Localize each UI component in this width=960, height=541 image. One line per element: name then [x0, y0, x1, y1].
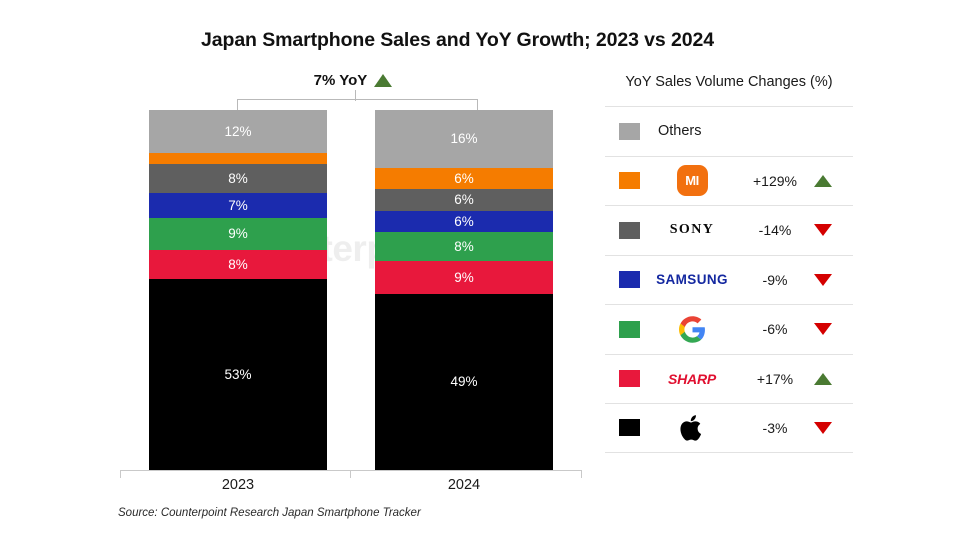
- samsung-logo-icon: SAMSUNG: [656, 272, 728, 287]
- legend-trend-arrow: [806, 323, 840, 335]
- legend-value: -6%: [744, 321, 806, 337]
- bar-segment-others: 16%: [375, 110, 553, 168]
- legend-brand-logo: SHARP: [640, 371, 744, 387]
- plot-area: 12%8%7%9%8%53% 16%6%6%6%8%9%49%: [120, 110, 582, 470]
- legend-row-sony[interactable]: SONY-14%: [605, 205, 853, 255]
- bar-segment-xiaomi: 6%: [375, 168, 553, 190]
- legend-value: +129%: [744, 173, 806, 189]
- axis-tick: [581, 470, 582, 478]
- legend-value: -3%: [744, 420, 806, 436]
- legend-rows: OthersMI+129%SONY-14%SAMSUNG-9%-6%SHARP+…: [605, 106, 853, 453]
- segment-value-label: 9%: [454, 271, 474, 285]
- legend-value: -14%: [744, 222, 806, 238]
- arrow-up-icon: [814, 175, 832, 187]
- google-logo-icon: [679, 316, 706, 343]
- segment-value-label: 6%: [454, 193, 474, 207]
- segment-value-label: 49%: [450, 375, 477, 389]
- segment-value-label: 8%: [454, 240, 474, 254]
- page-title: Japan Smartphone Sales and YoY Growth; 2…: [0, 29, 915, 52]
- legend-color-swatch: [619, 172, 640, 189]
- axis-tick: [350, 470, 351, 478]
- legend-brand-logo: SAMSUNG: [640, 272, 744, 287]
- stacked-bar-2024: 16%6%6%6%8%9%49%: [375, 110, 553, 470]
- bar-segment-sharp: 9%: [375, 261, 553, 293]
- bar-segment-samsung: 7%: [149, 193, 327, 218]
- arrow-down-icon: [814, 422, 832, 434]
- sharp-logo-icon: SHARP: [668, 371, 716, 387]
- legend-title: YoY Sales Volume Changes (%): [605, 74, 853, 90]
- legend-brand-logo: [640, 414, 744, 442]
- arrow-up-icon: [374, 74, 392, 87]
- arrow-down-icon: [814, 224, 832, 236]
- legend-trend-arrow: [806, 175, 840, 187]
- legend-value: -9%: [744, 272, 806, 288]
- legend-brand-logo: [640, 316, 744, 343]
- legend-color-swatch: [619, 271, 640, 288]
- legend-brand-logo: SONY: [640, 222, 744, 238]
- segment-value-label: 6%: [454, 215, 474, 229]
- legend-brand-logo: MI: [640, 165, 744, 196]
- bar-segment-sony: 8%: [149, 164, 327, 193]
- segment-value-label: 53%: [224, 368, 251, 382]
- source-note: Source: Counterpoint Research Japan Smar…: [118, 507, 421, 519]
- legend-row-xiaomi[interactable]: MI+129%: [605, 156, 853, 206]
- segment-value-label: 9%: [228, 227, 248, 241]
- apple-logo-icon: [680, 414, 704, 442]
- legend-color-swatch: [619, 419, 640, 436]
- legend-trend-arrow: [806, 373, 840, 385]
- legend-value: +17%: [744, 371, 806, 387]
- segment-value-label: 7%: [228, 199, 248, 213]
- legend-row-sharp[interactable]: SHARP+17%: [605, 354, 853, 404]
- arrow-down-icon: [814, 323, 832, 335]
- x-axis-label-2023: 2023: [149, 477, 327, 493]
- bar-segment-sharp: 8%: [149, 250, 327, 279]
- legend-color-swatch: [619, 370, 640, 387]
- legend-brand-label: Others: [658, 123, 702, 139]
- legend-trend-arrow: [806, 224, 840, 236]
- stacked-bar-2023: 12%8%7%9%8%53%: [149, 110, 327, 470]
- legend-color-swatch: [619, 222, 640, 239]
- legend-row-samsung[interactable]: SAMSUNG-9%: [605, 255, 853, 305]
- segment-value-label: 12%: [224, 125, 251, 139]
- x-axis-label-2024: 2024: [375, 477, 553, 493]
- legend-row-others[interactable]: Others: [605, 106, 853, 156]
- arrow-down-icon: [814, 274, 832, 286]
- bar-segment-sony: 6%: [375, 189, 553, 211]
- bar-segment-samsung: 6%: [375, 211, 553, 233]
- segment-value-label: 8%: [228, 172, 248, 186]
- segment-value-label: 8%: [228, 258, 248, 272]
- bar-segment-apple: 49%: [375, 294, 553, 470]
- legend-trend-arrow: [806, 274, 840, 286]
- legend-trend-arrow: [806, 422, 840, 434]
- segment-value-label: 6%: [454, 172, 474, 186]
- yoy-growth-badge: 7% YoY: [243, 72, 463, 89]
- legend-panel: YoY Sales Volume Changes (%) OthersMI+12…: [605, 74, 853, 453]
- bar-segment-google: 8%: [375, 232, 553, 261]
- bar-segment-xiaomi: [149, 153, 327, 164]
- legend-color-swatch: [619, 123, 640, 140]
- segment-value-label: 16%: [450, 132, 477, 146]
- chart-page: Japan Smartphone Sales and YoY Growth; 2…: [0, 0, 960, 541]
- legend-color-swatch: [619, 321, 640, 338]
- bar-segment-others: 12%: [149, 110, 327, 153]
- yoy-growth-label: 7% YoY: [314, 72, 368, 89]
- arrow-up-icon: [814, 373, 832, 385]
- legend-row-apple[interactable]: -3%: [605, 403, 853, 453]
- legend-row-google[interactable]: -6%: [605, 304, 853, 354]
- legend-brand-logo: Others: [640, 123, 762, 139]
- sony-logo-icon: SONY: [670, 222, 715, 238]
- axis-tick: [120, 470, 121, 478]
- xiaomi-logo-icon: MI: [677, 165, 708, 196]
- bar-segment-google: 9%: [149, 218, 327, 250]
- bar-segment-apple: 53%: [149, 279, 327, 470]
